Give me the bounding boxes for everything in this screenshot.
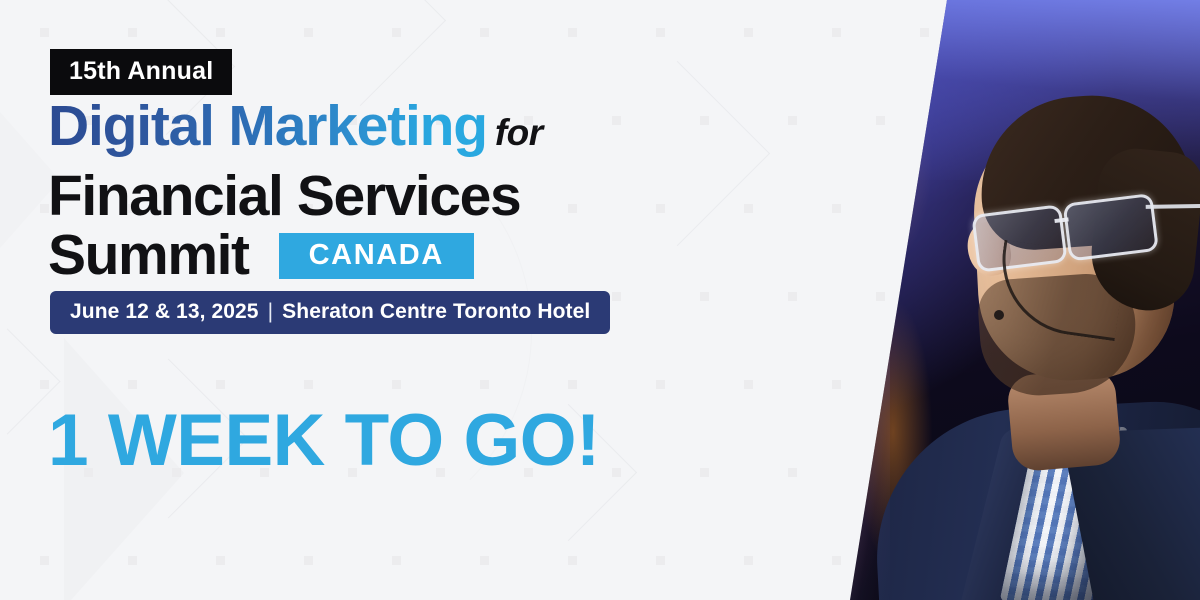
square-decor	[788, 292, 797, 301]
event-title-line-2: Financial Services	[48, 168, 520, 225]
square-decor	[788, 468, 797, 477]
square-decor	[832, 204, 841, 213]
countdown-headline: 1 WEEK TO GO!	[48, 404, 600, 477]
square-decor	[876, 292, 885, 301]
square-decor	[700, 468, 709, 477]
event-title-connector: for	[495, 112, 543, 153]
details-separator: |	[259, 300, 283, 323]
event-venue: Sheraton Centre Toronto Hotel	[282, 300, 590, 323]
square-decor	[832, 28, 841, 37]
event-title-main: Digital Marketing	[48, 94, 487, 158]
microphone-tip	[994, 310, 1004, 320]
square-decor	[788, 116, 797, 125]
square-decor	[920, 28, 929, 37]
square-decor	[744, 28, 753, 37]
square-decor	[700, 292, 709, 301]
country-badge-label: CANADA	[309, 239, 444, 271]
event-title-line-1: Digital Marketingfor	[48, 98, 543, 155]
event-title-line-3: Summit	[48, 227, 249, 284]
event-dates: June 12 & 13, 2025	[70, 300, 259, 323]
square-decor	[744, 204, 753, 213]
square-decor	[832, 556, 841, 565]
event-details-bar: June 12 & 13, 2025|Sheraton Centre Toron…	[50, 291, 610, 334]
square-decor	[744, 556, 753, 565]
banner-content: 15th Annual Digital Marketingfor Financi…	[0, 0, 700, 600]
square-decor	[876, 116, 885, 125]
event-details-text: June 12 & 13, 2025|Sheraton Centre Toron…	[70, 300, 590, 323]
event-promo-banner: 15th Annual Digital Marketingfor Financi…	[0, 0, 1200, 600]
square-decor	[744, 380, 753, 389]
square-decor	[700, 116, 709, 125]
square-decor	[832, 380, 841, 389]
event-title-line-3-row: Summit CANADA	[48, 227, 474, 284]
annual-edition-label: 15th Annual	[69, 57, 213, 85]
country-badge: CANADA	[279, 233, 474, 279]
annual-edition-badge: 15th Annual	[50, 49, 232, 95]
